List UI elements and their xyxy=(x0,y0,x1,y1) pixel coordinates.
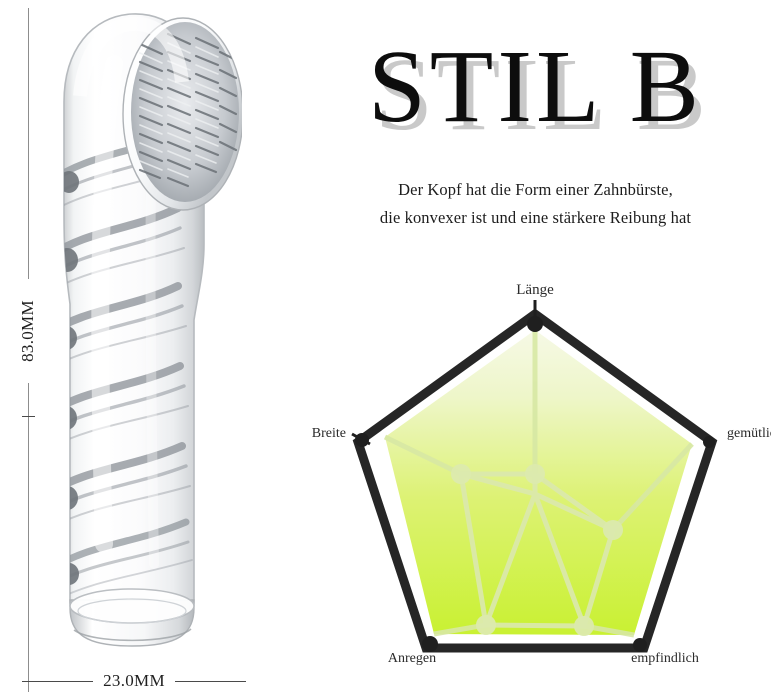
product-panel: 83.0MM xyxy=(0,0,300,700)
product-illustration xyxy=(28,4,242,660)
width-measure-line-left xyxy=(22,681,93,682)
axis-label-breite: Breite xyxy=(312,426,346,441)
content-panel: STIL B Der Kopf hat die Form einer Zahnb… xyxy=(300,0,771,700)
axis-label-gemuetlich: gemütlich xyxy=(727,426,771,441)
page-title: STIL B xyxy=(300,34,771,140)
subtitle-line-2: die konvexer ist und eine stärkere Reibu… xyxy=(300,204,771,232)
axis-label-laenge: Länge xyxy=(516,282,554,298)
subtitle-block: Der Kopf hat die Form einer Zahnbürste, … xyxy=(300,176,771,233)
title-block: STIL B xyxy=(300,34,771,140)
subtitle-line-1: Der Kopf hat die Form einer Zahnbürste, xyxy=(300,176,771,204)
axis-label-empfindlich: empfindlich xyxy=(631,651,699,666)
axis-label-anregen: Anregen xyxy=(388,651,436,666)
width-measure-line-right xyxy=(175,681,246,682)
radar-chart: Länge gemütlich empfindlich Anregen Brei… xyxy=(300,272,771,684)
width-measurement-label: 23.0MM xyxy=(93,671,175,691)
width-measurement: 23.0MM xyxy=(22,666,246,696)
